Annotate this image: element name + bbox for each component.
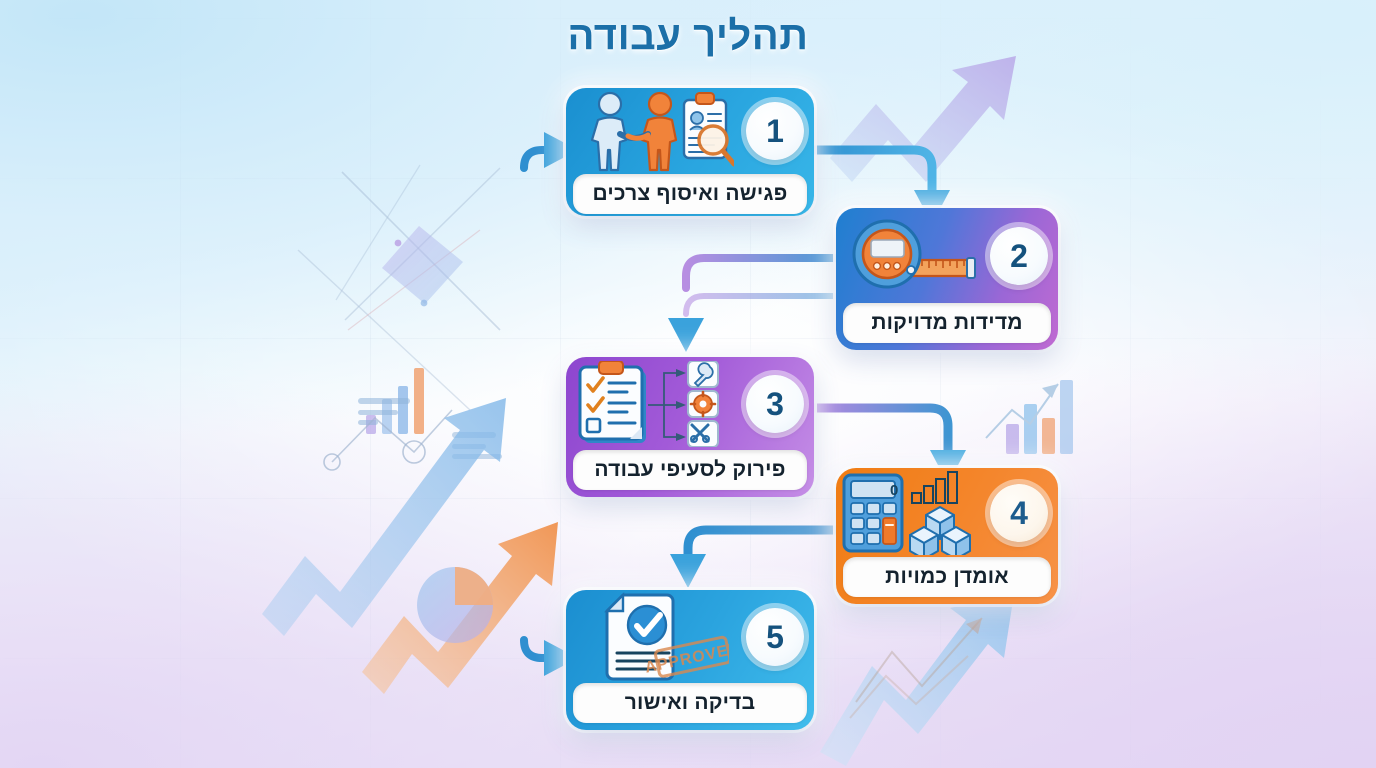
step-3-label: פירוק לסעיפי עבודה bbox=[573, 450, 807, 490]
handshake-icon bbox=[584, 88, 734, 174]
step-3-body: 3 bbox=[566, 357, 814, 450]
cubes-icon bbox=[910, 507, 970, 555]
step-4-number-badge: 4 bbox=[990, 484, 1048, 542]
step-3-number-badge: 3 bbox=[746, 375, 804, 433]
checklist-clipboard-icon bbox=[580, 361, 646, 443]
arrow-step2-to-step3 bbox=[686, 258, 836, 314]
calculator-display: 0 bbox=[890, 482, 898, 499]
step-4-body: 4 0 bbox=[836, 468, 1058, 557]
step-4-artwork: 0 bbox=[842, 471, 982, 555]
step-card-4[interactable]: 4 0 bbox=[836, 468, 1058, 604]
step-4-number: 4 bbox=[1010, 497, 1028, 529]
step-card-5[interactable]: 5 bbox=[566, 590, 814, 730]
step-card-2[interactable]: 2 bbox=[836, 208, 1058, 350]
step-5-label-text: בדיקה ואישור bbox=[625, 691, 756, 715]
step-1-label-text: פגישה ואיסוף צרכים bbox=[592, 182, 787, 206]
step-3-number: 3 bbox=[766, 388, 784, 420]
calculator-icon: 0 bbox=[844, 475, 902, 551]
step-card-1[interactable]: 1 bbox=[566, 88, 814, 216]
infographic-canvas: תהליך עבודה bbox=[0, 0, 1376, 768]
step-2-artwork bbox=[850, 216, 982, 296]
step-5-number: 5 bbox=[766, 621, 784, 653]
tape-measure-icon bbox=[851, 216, 981, 296]
step-5-number-badge: 5 bbox=[746, 608, 804, 666]
step-card-3[interactable]: 3 bbox=[566, 357, 814, 497]
step-1-number-badge: 1 bbox=[746, 102, 804, 160]
step-5-artwork: APPROVED bbox=[580, 591, 738, 683]
step-2-label: מדידות מדויקות bbox=[843, 303, 1051, 343]
step-5-label: בדיקה ואישור bbox=[573, 683, 807, 723]
step-2-body: 2 bbox=[836, 208, 1058, 303]
step-3-label-text: פירוק לסעיפי עבודה bbox=[594, 458, 785, 482]
step-5-body: 5 bbox=[566, 590, 814, 683]
step-2-label-text: מדידות מדויקות bbox=[871, 311, 1022, 335]
step-4-label-text: אומדן כמויות bbox=[885, 565, 1009, 589]
step-2-number-badge: 2 bbox=[990, 227, 1048, 285]
step-1-number: 1 bbox=[766, 115, 784, 147]
bar-chart-icon bbox=[912, 472, 957, 503]
step-2-number: 2 bbox=[1010, 240, 1028, 272]
step-3-artwork bbox=[578, 361, 738, 447]
step-4-label: אומדן כמויות bbox=[843, 557, 1051, 597]
step-1-body: 1 bbox=[566, 88, 814, 174]
step-1-label: פגישה ואיסוף צרכים bbox=[573, 174, 807, 214]
step-1-artwork bbox=[580, 88, 738, 174]
